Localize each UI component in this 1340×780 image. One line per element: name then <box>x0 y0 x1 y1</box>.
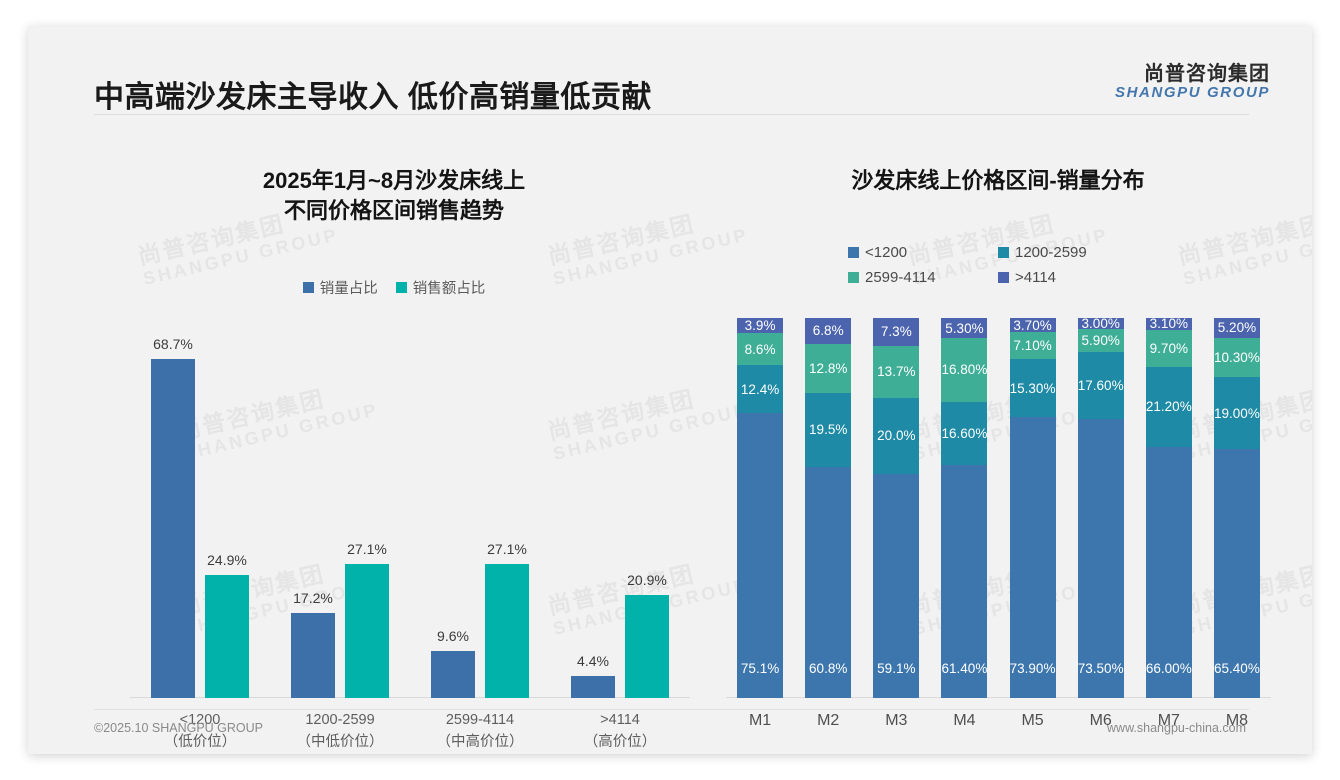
bar-fill <box>345 564 389 698</box>
x-axis-label-M3: M3 <box>873 712 919 730</box>
bar-group-1200-2599: 17.2%27.1%1200-2599（中低价位） <box>270 318 410 698</box>
stacked-bar-M5[interactable]: 3.70%7.10%15.30%73.90%M5 <box>1010 318 1056 698</box>
legend-item-1[interactable]: 1200-2599 <box>998 244 1148 261</box>
stack-segment-value-label: 19.00% <box>1214 406 1260 421</box>
stack-segment-M1->4114[interactable]: 3.9% <box>737 318 783 333</box>
stack-segment-M3->4114[interactable]: 7.3% <box>873 318 919 346</box>
stacked-bar-M7[interactable]: 3.10%9.70%21.20%66.00%M7 <box>1146 318 1192 698</box>
x-axis-label-M2: M2 <box>805 712 851 730</box>
stack-segment-M7-2599-4114[interactable]: 9.70% <box>1146 330 1192 367</box>
stack-segment-value-label: 6.8% <box>813 323 844 338</box>
stack-segment-value-label: 19.5% <box>809 422 847 437</box>
legend-label: 销售额占比 <box>413 277 486 298</box>
bar-fill <box>205 575 249 698</box>
stacked-bar-M1[interactable]: 3.9%8.6%12.4%75.1%M1 <box>737 318 783 698</box>
stack-segment-M1-<1200[interactable]: 75.1% <box>737 413 783 698</box>
stack-segment-M6-1200-2599[interactable]: 17.60% <box>1078 352 1124 419</box>
legend-label: <1200 <box>865 244 907 261</box>
x-axis-label-sub: （高价位） <box>550 732 690 754</box>
x-axis-label-M5: M5 <box>1010 712 1056 730</box>
stack-segment-value-label: 17.60% <box>1078 378 1124 393</box>
stack-segment-value-label: 13.7% <box>877 364 915 379</box>
right-chart-title: 沙发床线上价格区间-销量分布 <box>718 166 1278 196</box>
stack-segment-value-label: 59.1% <box>877 661 915 676</box>
stack-segment-value-label: 20.0% <box>877 428 915 443</box>
bar-fill <box>291 613 335 698</box>
right-chart-plot-area: 3.9%8.6%12.4%75.1%M16.8%12.8%19.5%60.8%M… <box>726 318 1271 698</box>
bar-group->4114: 4.4%20.9%>4114（高价位） <box>550 318 690 698</box>
legend-label: 销量占比 <box>320 277 378 298</box>
stack-segment-value-label: 60.8% <box>809 661 847 676</box>
bar-value-label: 4.4% <box>577 653 609 669</box>
left-chart-title: 2025年1月~8月沙发床线上 不同价格区间销售趋势 <box>94 166 694 225</box>
bar-fill <box>431 651 475 698</box>
legend-swatch-icon <box>998 247 1009 258</box>
legend-item-3[interactable]: >4114 <box>998 269 1148 286</box>
stack-segment-value-label: 3.70% <box>1013 318 1051 333</box>
stack-segment-M4-<1200[interactable]: 61.40% <box>941 465 987 698</box>
stacked-bar-M4[interactable]: 5.30%16.80%16.60%61.40%M4 <box>941 318 987 698</box>
legend-item-1[interactable]: 销售额占比 <box>396 277 486 298</box>
stack-segment-value-label: 15.30% <box>1010 381 1056 396</box>
stacked-bar-M8[interactable]: 5.20%10.30%19.00%65.40%M8 <box>1214 318 1260 698</box>
stacked-bar-M6[interactable]: 3.00%5.90%17.60%73.50%M6 <box>1078 318 1124 698</box>
stack-segment-M3-1200-2599[interactable]: 20.0% <box>873 398 919 474</box>
stack-segment-M6-2599-4114[interactable]: 5.90% <box>1078 329 1124 351</box>
legend-label: 2599-4114 <box>865 269 936 286</box>
x-axis-label-main: 1200-2599 <box>270 710 410 732</box>
stack-segment-value-label: 73.90% <box>1010 661 1056 676</box>
stack-segment-M7-1200-2599[interactable]: 21.20% <box>1146 367 1192 448</box>
right-chart-legend: <12001200-25992599-4114>4114 <box>718 244 1278 286</box>
stack-segment-value-label: 16.60% <box>942 426 988 441</box>
x-axis-label-M4: M4 <box>941 712 987 730</box>
bar-fill <box>151 359 195 698</box>
stack-segment-value-label: 21.20% <box>1146 399 1192 414</box>
bar-value-label: 20.9% <box>627 572 667 588</box>
header-divider <box>94 114 1249 115</box>
x-axis-label-sub: （低价位） <box>130 732 270 754</box>
stack-segment-M5-2599-4114[interactable]: 7.10% <box>1010 332 1056 359</box>
legend-swatch-icon <box>396 282 407 293</box>
bar-<1200-销量占比[interactable]: 68.7% <box>151 359 195 698</box>
x-axis-label-M1: M1 <box>737 712 783 730</box>
logo-chinese-text: 尚普咨询集团 <box>1115 64 1270 85</box>
stack-segment-M8-2599-4114[interactable]: 10.30% <box>1214 338 1260 377</box>
slide-canvas: 尚普咨询集团SHANGPU GROUP尚普咨询集团SHANGPU GROUP尚普… <box>28 26 1312 754</box>
stack-segment-M4-1200-2599[interactable]: 16.60% <box>941 402 987 465</box>
legend-item-0[interactable]: 销量占比 <box>303 277 378 298</box>
stack-segment-M2-1200-2599[interactable]: 19.5% <box>805 393 851 467</box>
stack-segment-value-label: 73.50% <box>1078 661 1124 676</box>
legend-swatch-icon <box>303 282 314 293</box>
stack-segment-value-label: 9.70% <box>1150 341 1188 356</box>
bar-1200-2599-销量占比[interactable]: 17.2% <box>291 613 335 698</box>
bar-group-2599-4114: 9.6%27.1%2599-4114（中高价位） <box>410 318 550 698</box>
stack-segment-M2-<1200[interactable]: 60.8% <box>805 467 851 698</box>
legend-swatch-icon <box>848 247 859 258</box>
stack-segment-M8-<1200[interactable]: 65.40% <box>1214 449 1260 698</box>
bar-value-label: 24.9% <box>207 552 247 568</box>
footer-divider <box>94 709 1249 710</box>
stack-segment-value-label: 66.00% <box>1146 661 1192 676</box>
footer-website: www.shangpu-china.com <box>1107 721 1246 735</box>
stack-segment-value-label: 10.30% <box>1214 350 1260 365</box>
stack-segment-value-label: 12.4% <box>741 382 779 397</box>
bar-value-label: 68.7% <box>153 336 193 352</box>
stack-segment-M1-1200-2599[interactable]: 12.4% <box>737 365 783 412</box>
bar-value-label: 9.6% <box>437 628 469 644</box>
stack-segment-value-label: 7.10% <box>1013 338 1051 353</box>
stack-segment-M8-1200-2599[interactable]: 19.00% <box>1214 377 1260 449</box>
stacked-bar-M2[interactable]: 6.8%12.8%19.5%60.8%M2 <box>805 318 851 698</box>
page-title: 中高端沙发床主导收入 低价高销量低贡献 <box>94 72 652 116</box>
stack-segment-M3-2599-4114[interactable]: 13.7% <box>873 346 919 398</box>
stack-segment-value-label: 8.6% <box>745 342 776 357</box>
stack-segment-value-label: 3.9% <box>745 318 776 333</box>
left-chart-plot-area: 68.7%24.9%<1200（低价位）17.2%27.1%1200-2599（… <box>130 318 690 698</box>
stack-segment-M5-1200-2599[interactable]: 15.30% <box>1010 359 1056 417</box>
legend-label: >4114 <box>1015 269 1056 286</box>
stack-segment-M5->4114[interactable]: 3.70% <box>1010 318 1056 332</box>
chart-panel-sales-trend: 2025年1月~8月沙发床线上 不同价格区间销售趋势 销量占比销售额占比 68.… <box>94 166 694 726</box>
legend-item-0[interactable]: <1200 <box>848 244 998 261</box>
x-axis-label-1200-2599: 1200-2599（中低价位） <box>270 710 410 754</box>
legend-swatch-icon <box>998 272 1009 283</box>
stack-segment-M2->4114[interactable]: 6.8% <box>805 318 851 344</box>
stack-segment-value-label: 7.3% <box>881 324 912 339</box>
stack-segment-value-label: 16.80% <box>942 362 988 377</box>
slide-header: 中高端沙发床主导收入 低价高销量低贡献 尚普咨询集团 SHANGPU GROUP <box>28 26 1312 111</box>
stack-segment-M1-2599-4114[interactable]: 8.6% <box>737 333 783 366</box>
stack-segment-M5-<1200[interactable]: 73.90% <box>1010 417 1056 698</box>
bar-value-label: 17.2% <box>293 590 333 606</box>
stack-segment-value-label: 5.20% <box>1218 320 1256 335</box>
left-chart-legend: 销量占比销售额占比 <box>94 277 694 298</box>
legend-label: 1200-2599 <box>1015 244 1087 261</box>
bar-value-label: 27.1% <box>347 541 387 557</box>
bar-group-<1200: 68.7%24.9%<1200（低价位） <box>130 318 270 698</box>
left-chart-title-line1: 2025年1月~8月沙发床线上 <box>94 166 694 196</box>
x-axis-label-main: >4114 <box>550 710 690 732</box>
bar-fill <box>485 564 529 698</box>
logo-english-text: SHANGPU GROUP <box>1115 85 1270 101</box>
bar-fill <box>625 595 669 698</box>
stack-segment-M4->4114[interactable]: 5.30% <box>941 318 987 338</box>
x-axis-label->4114: >4114（高价位） <box>550 710 690 754</box>
stack-segment-M2-2599-4114[interactable]: 12.8% <box>805 344 851 393</box>
bar-fill <box>571 676 615 698</box>
x-axis-label-main: 2599-4114 <box>410 710 550 732</box>
bar-1200-2599-销售额占比[interactable]: 27.1% <box>345 564 389 698</box>
stack-segment-value-label: 5.90% <box>1082 333 1120 348</box>
legend-item-2[interactable]: 2599-4114 <box>848 269 998 286</box>
chart-panel-price-distribution: 沙发床线上价格区间-销量分布 <12001200-25992599-4114>4… <box>718 166 1278 726</box>
stack-segment-value-label: 5.30% <box>945 321 983 336</box>
x-axis-label-sub: （中低价位） <box>270 732 410 754</box>
stack-segment-value-label: 65.40% <box>1214 661 1260 676</box>
stack-segment-value-label: 12.8% <box>809 361 847 376</box>
stack-segment-M6-<1200[interactable]: 73.50% <box>1078 419 1124 698</box>
stack-segment-M4-2599-4114[interactable]: 16.80% <box>941 338 987 402</box>
brand-logo: 尚普咨询集团 SHANGPU GROUP <box>1115 64 1270 101</box>
stacked-bar-M3[interactable]: 7.3%13.7%20.0%59.1%M3 <box>873 318 919 698</box>
legend-swatch-icon <box>848 272 859 283</box>
bar-<1200-销售额占比[interactable]: 24.9% <box>205 575 249 698</box>
x-axis-label-sub: （中高价位） <box>410 732 550 754</box>
footer-copyright: ©2025.10 SHANGPU GROUP <box>94 721 263 735</box>
stack-segment-value-label: 75.1% <box>741 661 779 676</box>
left-chart-title-line2: 不同价格区间销售趋势 <box>94 196 694 226</box>
stack-segment-value-label: 61.40% <box>942 661 988 676</box>
stack-segment-M3-<1200[interactable]: 59.1% <box>873 474 919 698</box>
bar-2599-4114-销售额占比[interactable]: 27.1% <box>485 564 529 698</box>
bar-2599-4114-销量占比[interactable]: 9.6% <box>431 651 475 698</box>
stack-segment-M7->4114[interactable]: 3.10% <box>1146 318 1192 330</box>
stack-segment-M7-<1200[interactable]: 66.00% <box>1146 447 1192 698</box>
bar->4114-销售额占比[interactable]: 20.9% <box>625 595 669 698</box>
stack-segment-M8->4114[interactable]: 5.20% <box>1214 318 1260 338</box>
stack-segment-M6->4114[interactable]: 3.00% <box>1078 318 1124 329</box>
bar-value-label: 27.1% <box>487 541 527 557</box>
bar->4114-销量占比[interactable]: 4.4% <box>571 676 615 698</box>
x-axis-label-2599-4114: 2599-4114（中高价位） <box>410 710 550 754</box>
